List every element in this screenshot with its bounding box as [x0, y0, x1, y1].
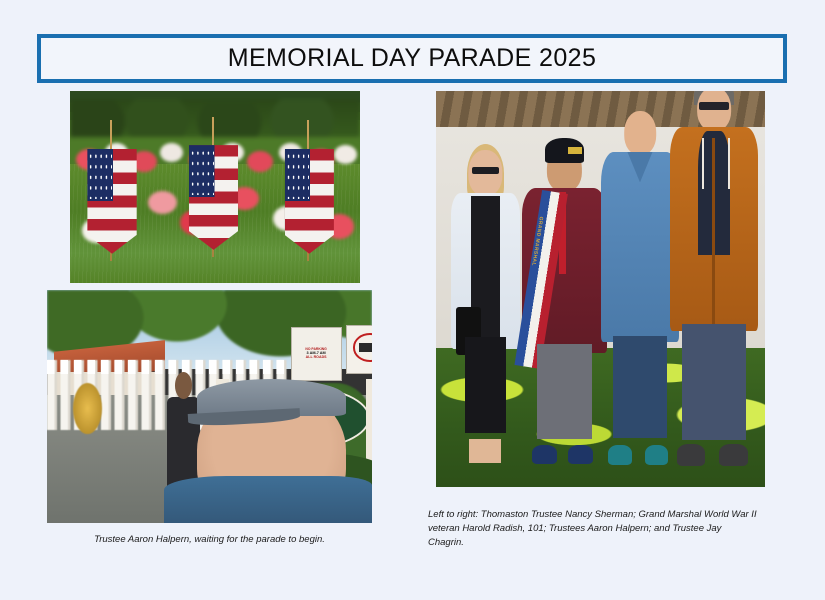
no-trucks-icon	[353, 333, 372, 361]
american-flag	[87, 137, 136, 256]
american-flag	[189, 133, 238, 252]
head	[697, 91, 731, 131]
bystander	[167, 397, 200, 486]
shoe	[532, 445, 558, 464]
page-title: MEMORIAL DAY PARADE 2025	[228, 44, 597, 73]
shoe	[719, 444, 747, 466]
band-caps	[47, 360, 288, 374]
gray-trousers	[537, 344, 592, 439]
carnation	[160, 143, 183, 162]
shoe	[568, 445, 594, 464]
zipper	[712, 138, 715, 327]
black-trousers	[465, 337, 506, 433]
carnation	[334, 145, 357, 164]
caption-group-portrait: Left to right: Thomaston Trustee Nancy S…	[428, 508, 758, 549]
person-aaron-halpern	[601, 111, 680, 452]
baseball-cap	[197, 379, 347, 416]
sunglasses	[699, 102, 729, 111]
sign-post-right	[366, 379, 373, 463]
sandals	[469, 439, 501, 463]
shoe	[608, 445, 632, 465]
flag-stars	[286, 151, 310, 199]
caption-parade-selfie: Trustee Aaron Halpern, waiting for the p…	[47, 533, 372, 547]
american-flag	[285, 137, 334, 256]
hedge-row	[70, 99, 360, 137]
head	[624, 111, 656, 155]
flag-stars	[88, 151, 112, 199]
shoe	[677, 444, 705, 466]
flag-stars	[190, 148, 214, 196]
photo-flags-in-grass	[70, 91, 360, 283]
jeans	[613, 336, 667, 438]
hoodie-drawstrings	[702, 138, 731, 189]
page-title-banner: MEMORIAL DAY PARADE 2025	[37, 34, 787, 83]
no-trucks-sign	[346, 325, 372, 374]
person-jay-chagrin	[670, 91, 759, 451]
photo-parade-selfie: NO PARKING 3 AM-7 AM ALL ROADS Village o…	[47, 290, 372, 523]
street-sign-line3: ALL ROADS	[306, 356, 327, 360]
shoe	[645, 445, 669, 465]
veteran-cap	[545, 138, 584, 163]
carnation	[148, 191, 177, 214]
blue-shirt	[164, 476, 372, 523]
street-sign-no-parking: NO PARKING 3 AM-7 AM ALL ROADS	[291, 327, 342, 380]
sunglasses	[472, 167, 500, 175]
carnation	[247, 151, 273, 172]
person-harold-radish-grand-marshal: GRAND MARSHAL	[522, 135, 608, 452]
person-nancy-sherman	[449, 150, 521, 451]
jeans	[682, 324, 746, 441]
photo-group-portrait: GRAND MARSHAL	[436, 91, 765, 487]
